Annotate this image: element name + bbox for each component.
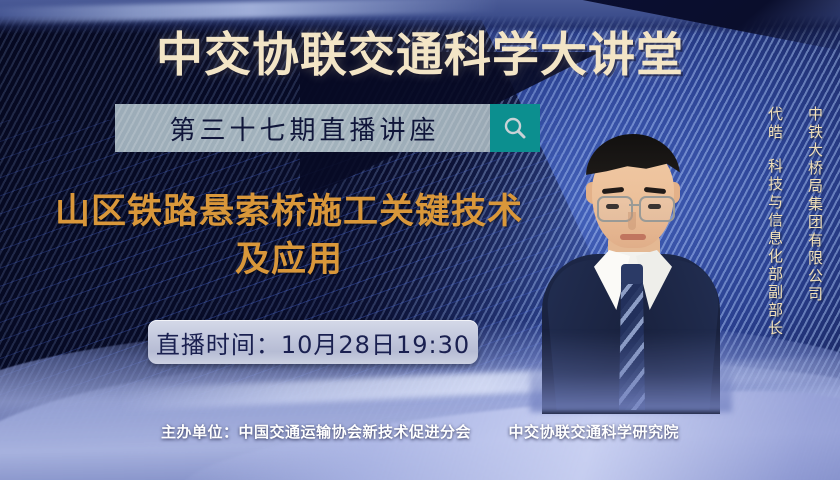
webinar-poster: 中交协联交通科学大讲堂 第三十七期直播讲座 山区铁路悬索桥施工关键技术 及应用 … (0, 0, 840, 480)
topic-line-1: 山区铁路悬索桥施工关键技术 (55, 192, 523, 232)
portrait-glasses-bridge (629, 204, 639, 206)
topic-title: 山区铁路悬索桥施工关键技术 及应用 (24, 188, 554, 284)
portrait-nose (628, 212, 636, 230)
search-button[interactable] (490, 104, 540, 152)
broadcast-time-text: 直播时间：10月28日19:30 (156, 325, 470, 360)
topic-line-2: 及应用 (24, 236, 554, 284)
session-bar: 第三十七期直播讲座 (115, 104, 540, 152)
page-title: 中交协联交通科学大讲堂 (0, 16, 840, 85)
portrait-bottom-fade (530, 332, 732, 412)
speaker-organization: 中铁大桥局集团有限公司 (806, 106, 822, 304)
portrait-necktie-knot (621, 264, 643, 284)
session-label: 第三十七期直播讲座 (165, 110, 439, 147)
footer-organizer: 主办单位：中国交通运输协会新技术促进分会 (161, 423, 471, 441)
footer: 主办单位：中国交通运输协会新技术促进分会 中交协联交通科学研究院 (0, 421, 840, 442)
speaker-role: 科技与信息化部副部长 (766, 158, 782, 338)
speaker-portrait (540, 104, 722, 404)
broadcast-time-badge: 直播时间：10月28日19:30 (148, 320, 478, 364)
speaker-name: 代皓 (766, 106, 782, 142)
portrait-mouth (620, 234, 646, 240)
search-icon (502, 115, 528, 141)
footer-institute: 中交协联交通科学研究院 (508, 423, 679, 441)
portrait-glasses-right (639, 196, 675, 222)
session-label-bar: 第三十七期直播讲座 (115, 104, 490, 152)
